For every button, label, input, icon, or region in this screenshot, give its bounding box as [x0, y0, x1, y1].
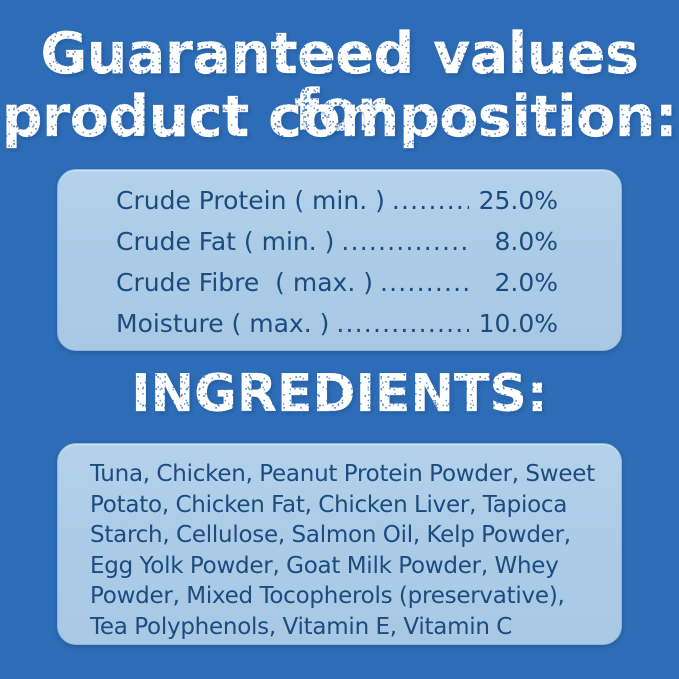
nutrient-value: 2.0% [472, 268, 558, 297]
ingredients-heading: INGREDIENTS: [0, 368, 679, 420]
title-line-2-text: product composition: [2, 89, 677, 146]
guaranteed-values-title-line-2: product composition: [0, 89, 679, 146]
ingredients-heading-text: INGREDIENTS: [131, 368, 547, 420]
nutrient-value: 8.0% [472, 227, 558, 256]
guaranteed-analysis-row: Crude Protein ( min. ) .................… [80, 186, 599, 227]
ingredients-panel: Tuna, Chicken, Peanut Protein Powder, Sw… [57, 443, 622, 645]
ingredients-list-text: Tuna, Chicken, Peanut Protein Powder, Sw… [90, 459, 597, 642]
leader-dots: ........................................… [336, 311, 469, 336]
nutrient-label: Crude Fibre ( max. ) [116, 268, 373, 297]
leader-dots: ........................................… [392, 188, 469, 213]
leader-dots: ........................................… [341, 229, 469, 254]
nutrient-value: 25.0% [472, 186, 558, 215]
guaranteed-analysis-row: Crude Fat ( min. ) .....................… [80, 227, 599, 268]
leader-dots: ........................................… [380, 270, 469, 295]
nutrient-value: 10.0% [472, 309, 558, 338]
nutrient-label: Crude Fat ( min. ) [116, 227, 334, 256]
guaranteed-analysis-row: Crude Fibre ( max. ) ...................… [80, 268, 599, 309]
nutrient-label: Crude Protein ( min. ) [116, 186, 385, 215]
guaranteed-analysis-row: Moisture ( max. ) ......................… [80, 309, 599, 350]
nutrient-label: Moisture ( max. ) [116, 309, 329, 338]
pet-food-label: Guaranteed values for product compositio… [0, 0, 679, 679]
guaranteed-analysis-panel: Crude Protein ( min. ) .................… [57, 169, 622, 351]
